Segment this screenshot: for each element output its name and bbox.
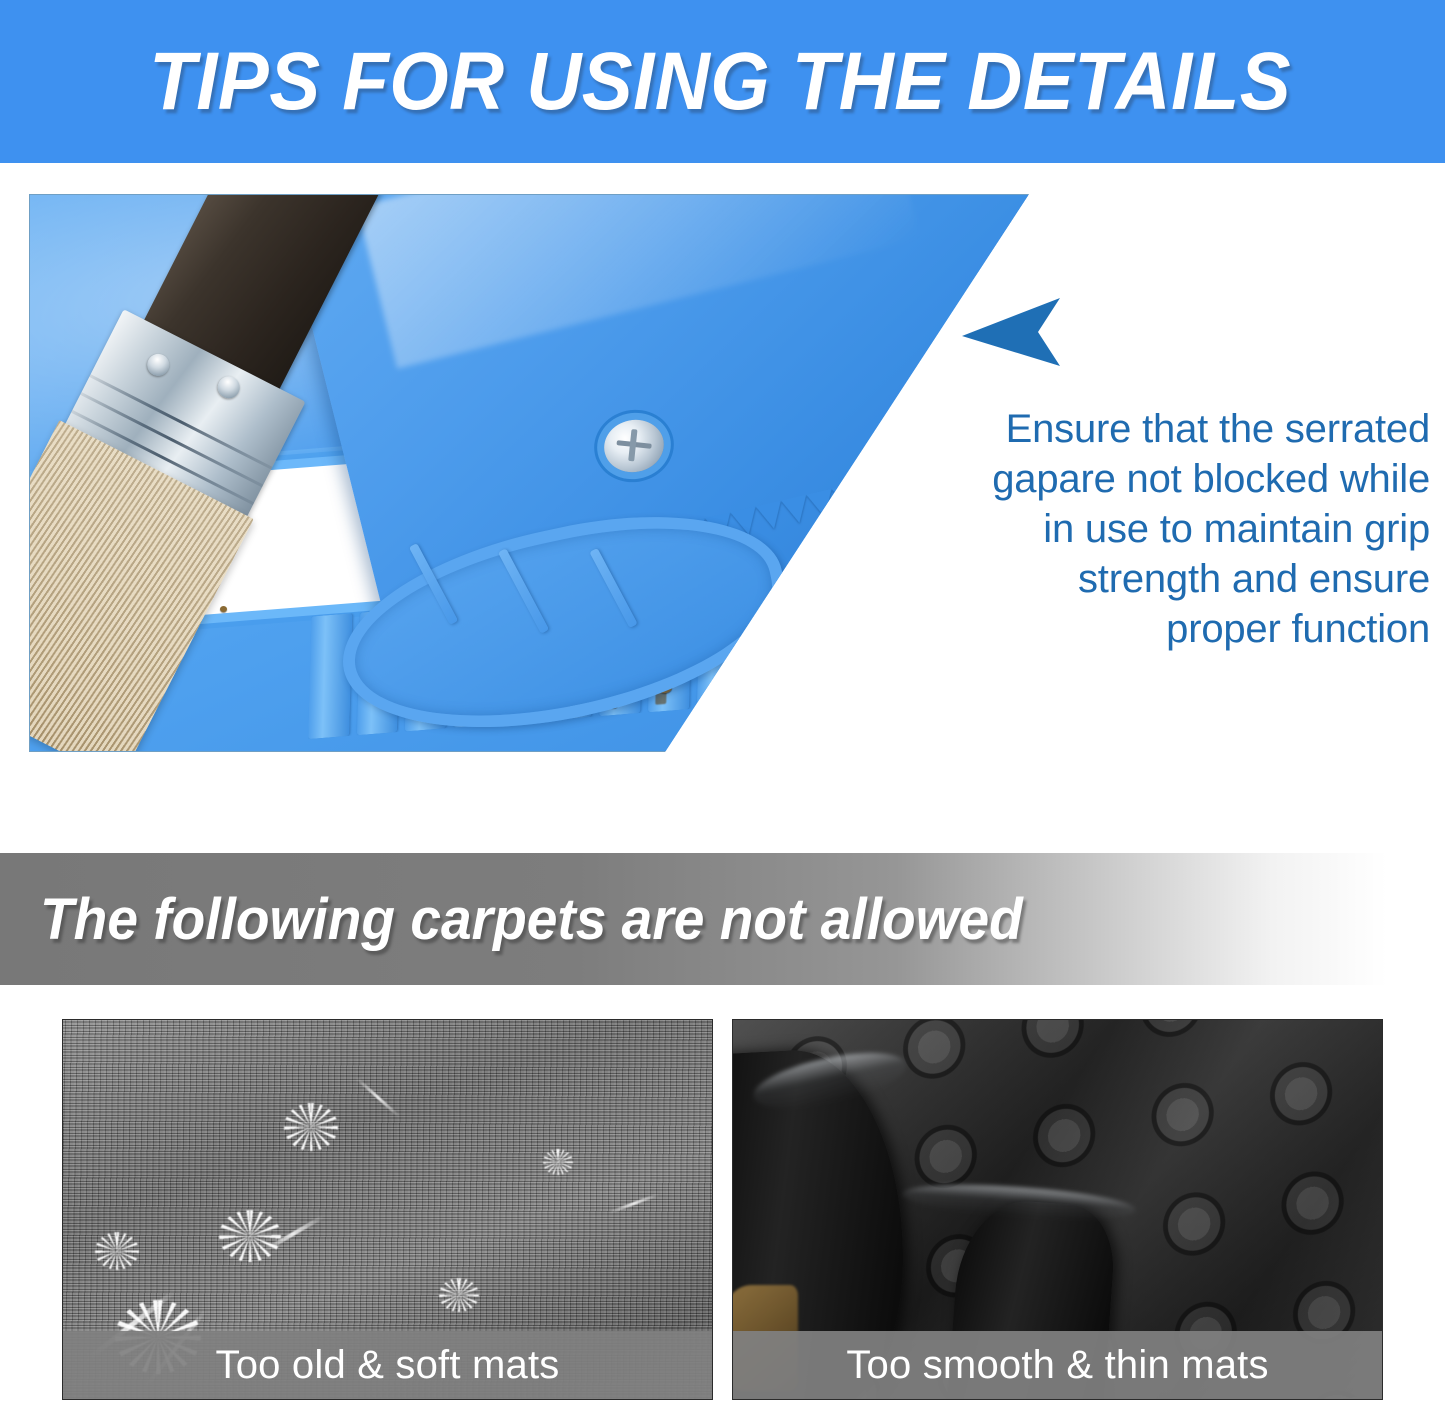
- serration-tooth: [882, 472, 913, 503]
- serration-tooth: [857, 477, 888, 508]
- header-banner: TIPS FOR USING THE DETAILS: [0, 0, 1445, 163]
- carpet-fibre-tuft: [284, 1103, 338, 1151]
- serration-tooth: [832, 483, 863, 514]
- carpet-fibre-streak: [355, 1077, 400, 1118]
- brush-rivet: [214, 374, 244, 404]
- callout-block: Ensure that the serrated gapare not bloc…: [960, 296, 1430, 654]
- brush-rivet: [143, 350, 173, 380]
- card-caption: Too old & soft mats: [63, 1331, 712, 1399]
- hero-photo-wrapper: [29, 194, 1029, 752]
- carpet-fibre-tuft: [219, 1210, 281, 1262]
- disallowed-mats-gallery: Too old & soft mats Too smooth & thin ma…: [62, 1019, 1384, 1400]
- section-banner: The following carpets are not allowed: [0, 853, 1445, 985]
- card-caption: Too smooth & thin mats: [733, 1331, 1382, 1399]
- card-smooth-thin-mats: Too smooth & thin mats: [732, 1019, 1383, 1400]
- carpet-fibre-streak: [609, 1193, 659, 1214]
- carpet-fibre-tuft: [95, 1232, 139, 1270]
- page-title: TIPS FOR USING THE DETAILS: [149, 35, 1297, 129]
- carpet-fibre-tuft: [439, 1278, 479, 1312]
- tool-cleaning-photo: [29, 194, 1029, 752]
- carpet-fibre-tuft: [543, 1149, 573, 1175]
- left-arrow-icon: [960, 296, 1066, 368]
- section-title: The following carpets are not allowed: [40, 886, 1023, 953]
- card-old-soft-mats: Too old & soft mats: [62, 1019, 713, 1400]
- callout-text: Ensure that the serrated gapare not bloc…: [960, 404, 1430, 654]
